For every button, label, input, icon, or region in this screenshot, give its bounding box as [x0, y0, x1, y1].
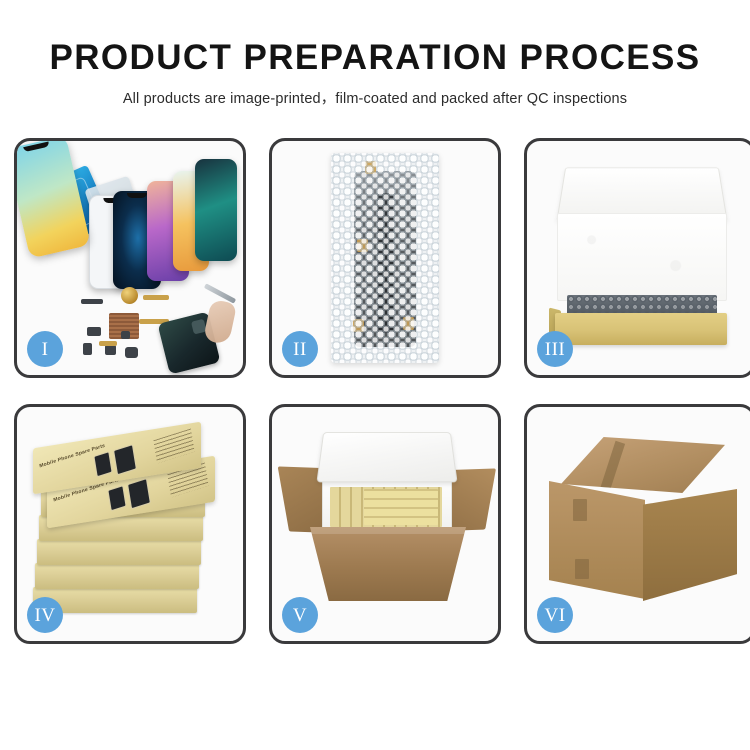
open-kraft-box — [545, 163, 735, 349]
hand — [203, 299, 237, 345]
sealed-shipping-carton — [549, 437, 737, 605]
carton-right-face — [643, 489, 737, 601]
speaker-part — [121, 287, 138, 304]
carton-left-face — [549, 481, 645, 599]
step-badge-5: V — [282, 597, 318, 633]
box-graphic-phone-c — [93, 451, 112, 477]
step-badge-4: IV — [27, 597, 63, 633]
step-badge-6: VI — [537, 597, 573, 633]
step-badge-2: II — [282, 331, 318, 367]
small-part-b — [83, 343, 92, 355]
box-graphic-phone-d — [113, 444, 137, 475]
kraft-boxes-inside-second — [364, 489, 438, 525]
stacked-box-5 — [35, 563, 199, 589]
tape-patch-upper — [573, 499, 587, 521]
notch — [23, 141, 49, 152]
carton-body — [310, 527, 466, 601]
small-part-a — [87, 327, 101, 336]
carton-seam — [599, 441, 625, 495]
box-graphic-phone-a — [107, 485, 126, 511]
process-step-grid: I II — [14, 138, 736, 684]
process-step-2: II — [269, 138, 501, 378]
process-step-3: III — [524, 138, 750, 378]
stacked-box-4 — [37, 539, 201, 565]
bubble-wrap-bag — [331, 153, 439, 363]
product-preparation-infographic: PRODUCT PREPARATION PROCESS All products… — [0, 0, 750, 750]
bubble-texture-offset — [331, 153, 439, 363]
box-stack: Mobile Phone Spare Parts Mobile Phone Sp… — [31, 429, 231, 621]
carton-top-face — [561, 437, 725, 493]
page-subtitle: All products are image-printed，film-coat… — [0, 87, 750, 108]
foam-sheet — [557, 213, 727, 301]
phone-green — [195, 159, 237, 261]
small-part-d — [125, 347, 138, 358]
box-tray — [555, 313, 727, 345]
page-title: PRODUCT PREPARATION PROCESS — [0, 40, 750, 75]
box-text-lines-upper — [153, 428, 194, 463]
small-part-c — [105, 345, 116, 355]
box-graphic-phone-b — [127, 478, 151, 509]
flex-cable-a — [143, 295, 169, 300]
step-badge-3: III — [537, 331, 573, 367]
process-step-4: Mobile Phone Spare Parts Mobile Phone Sp… — [14, 404, 246, 644]
header: PRODUCT PREPARATION PROCESS All products… — [0, 0, 750, 108]
notch — [127, 193, 147, 198]
step-badge-1: I — [27, 331, 63, 367]
battery-connector — [81, 299, 103, 304]
open-carton — [290, 453, 484, 605]
tape-patch-lower — [575, 559, 589, 579]
flex-cable-c — [99, 341, 117, 346]
process-step-1: I — [14, 138, 246, 378]
phone-large-foreground — [14, 138, 91, 259]
small-part-e — [121, 331, 130, 339]
process-step-6: VI — [524, 404, 750, 644]
process-step-5: V — [269, 404, 501, 644]
foam-cooler-lid — [316, 432, 457, 482]
spare-parts-group — [81, 287, 221, 371]
